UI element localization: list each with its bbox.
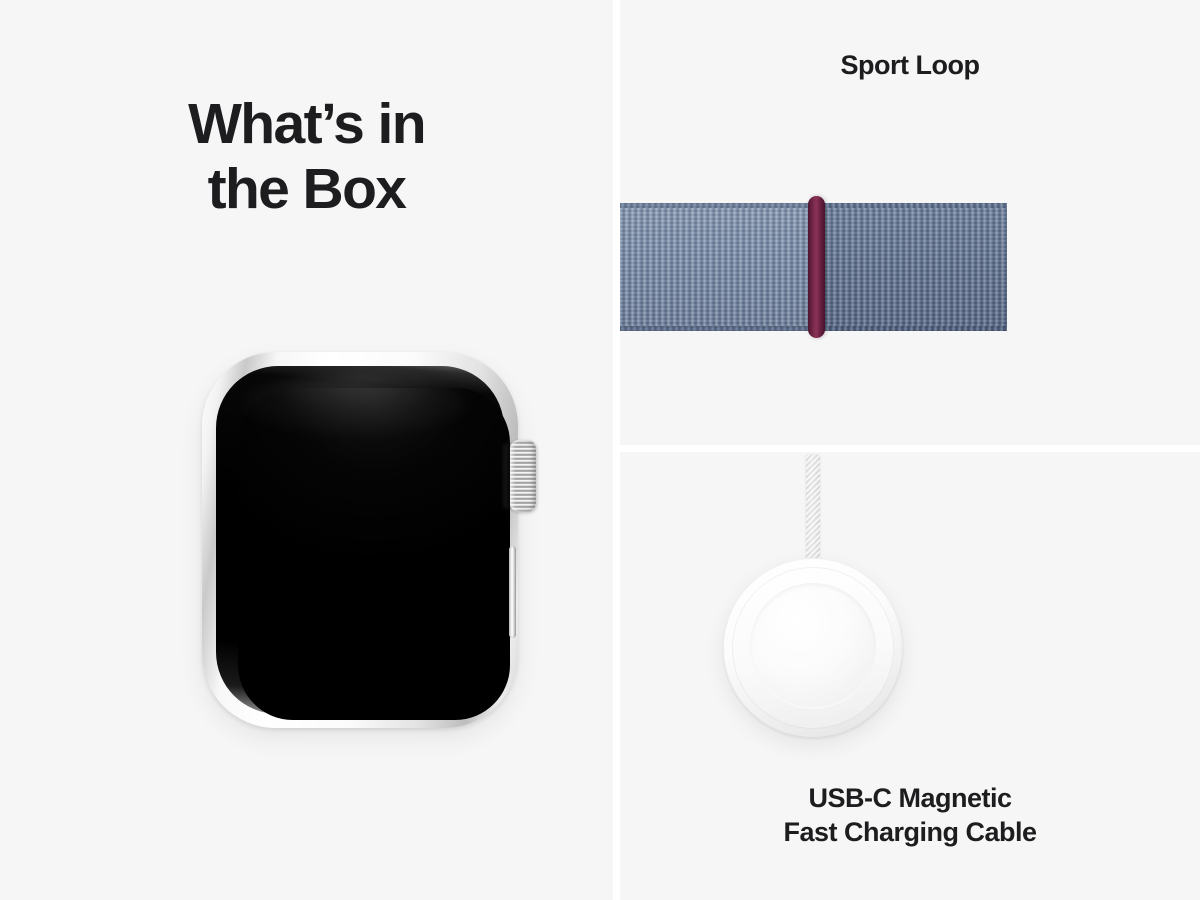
cable-title-line-1: USB-C Magnetic bbox=[808, 783, 1011, 813]
band-segment-left bbox=[620, 203, 816, 331]
braided-cord bbox=[806, 455, 820, 570]
band-segment-right bbox=[816, 203, 1007, 331]
headline-line-1: What’s in bbox=[188, 92, 425, 156]
charger-puck-face bbox=[750, 583, 876, 709]
watch-display bbox=[238, 388, 510, 720]
panel-charging-cable: USB-C Magnetic Fast Charging Cable bbox=[620, 452, 1200, 900]
panel-whats-in-the-box: What’s in the Box bbox=[0, 0, 613, 900]
apple-watch-image bbox=[200, 350, 520, 730]
sport-loop-title: Sport Loop bbox=[620, 50, 1200, 81]
headline-line-2: the Box bbox=[0, 157, 613, 222]
page-title: What’s in the Box bbox=[0, 92, 613, 222]
side-button bbox=[509, 546, 516, 638]
sport-loop-band-image bbox=[620, 203, 1200, 331]
band-clasp bbox=[808, 196, 825, 338]
watch-glass-reflection bbox=[240, 374, 470, 434]
charging-cable-title: USB-C Magnetic Fast Charging Cable bbox=[620, 782, 1200, 850]
product-gallery: What’s in the Box Sport Loop bbox=[0, 0, 1200, 900]
panel-sport-loop: Sport Loop bbox=[620, 0, 1200, 445]
cable-title-line-2: Fast Charging Cable bbox=[620, 816, 1200, 850]
charging-cable-image bbox=[620, 452, 1200, 782]
digital-crown bbox=[510, 440, 536, 512]
